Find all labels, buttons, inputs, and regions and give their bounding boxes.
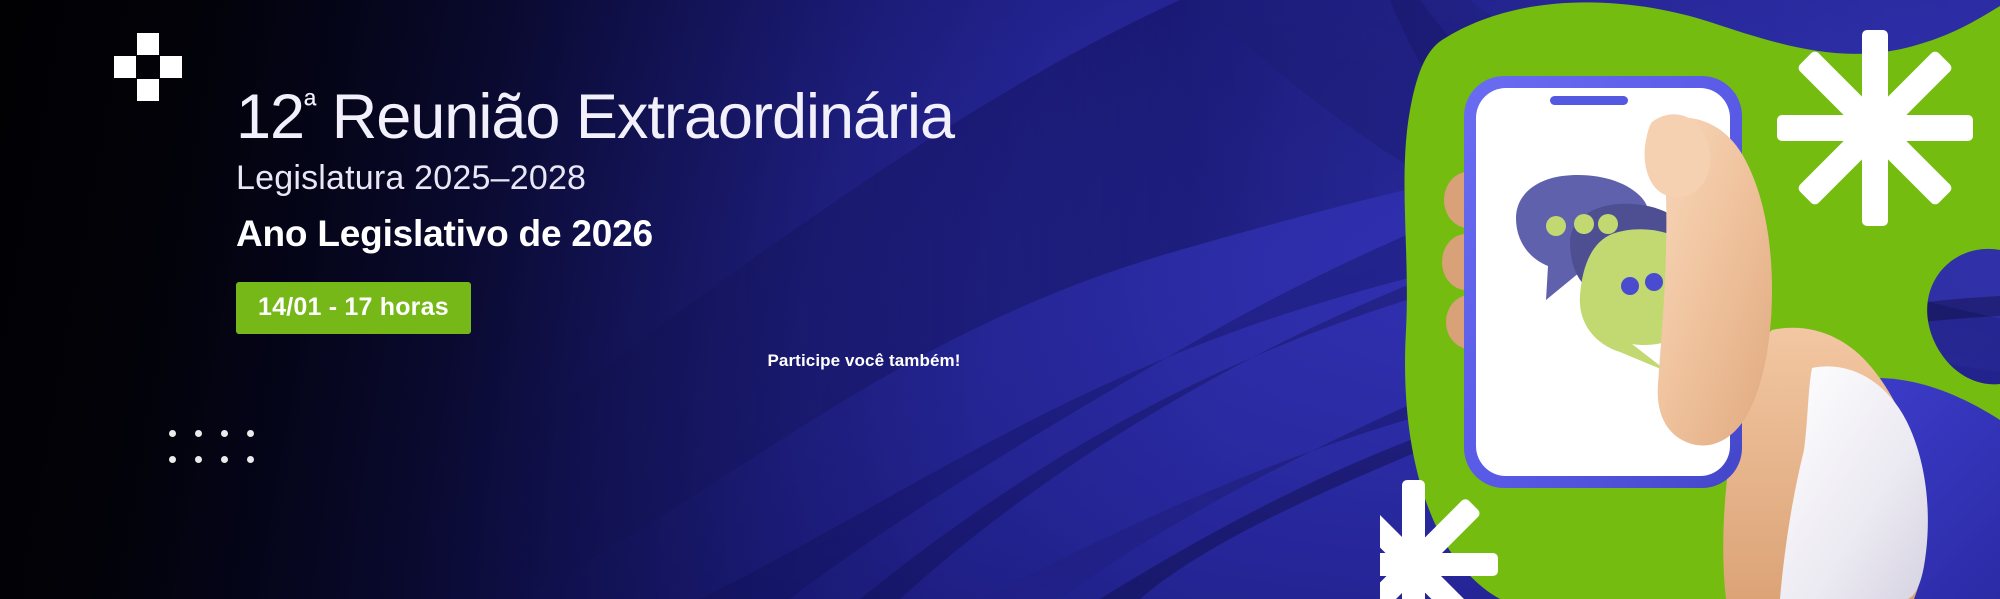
legislature-subtitle: Legislatura 2025–2028 [236, 161, 1136, 197]
headline-block: 12ª Reunião Extraordinária Legislatura 2… [236, 86, 1136, 334]
dot-grid-decoration [169, 430, 257, 466]
dot [221, 430, 228, 437]
phone-speaker [1550, 96, 1628, 105]
title-rest: Reunião Extraordinária [315, 82, 954, 152]
dot [247, 456, 254, 463]
date-time-badge[interactable]: 14/01 - 17 horas [236, 282, 471, 334]
dot [195, 430, 202, 437]
plus-cross-square-left [114, 56, 136, 78]
dot [169, 430, 176, 437]
page-title: 12ª Reunião Extraordinária [236, 86, 1136, 149]
dot [169, 456, 176, 463]
dot [195, 456, 202, 463]
asterisk-sparkle-top-right [1777, 30, 1973, 226]
title-ordinal: ª [304, 86, 315, 123]
dot [247, 430, 254, 437]
dot [221, 456, 228, 463]
cta-text: Participe você também! [654, 351, 1074, 371]
plus-cross-square-bottom [137, 79, 159, 101]
plus-cross-icon [114, 33, 182, 101]
legislative-year: Ano Legislativo de 2026 [236, 215, 1136, 254]
event-banner: 12ª Reunião Extraordinária Legislatura 2… [0, 0, 2000, 599]
title-number: 12 [236, 82, 304, 152]
plus-cross-square-right [160, 56, 182, 78]
hand-holding-phone-illustration [1380, 0, 2000, 599]
plus-cross-square-top [137, 33, 159, 55]
